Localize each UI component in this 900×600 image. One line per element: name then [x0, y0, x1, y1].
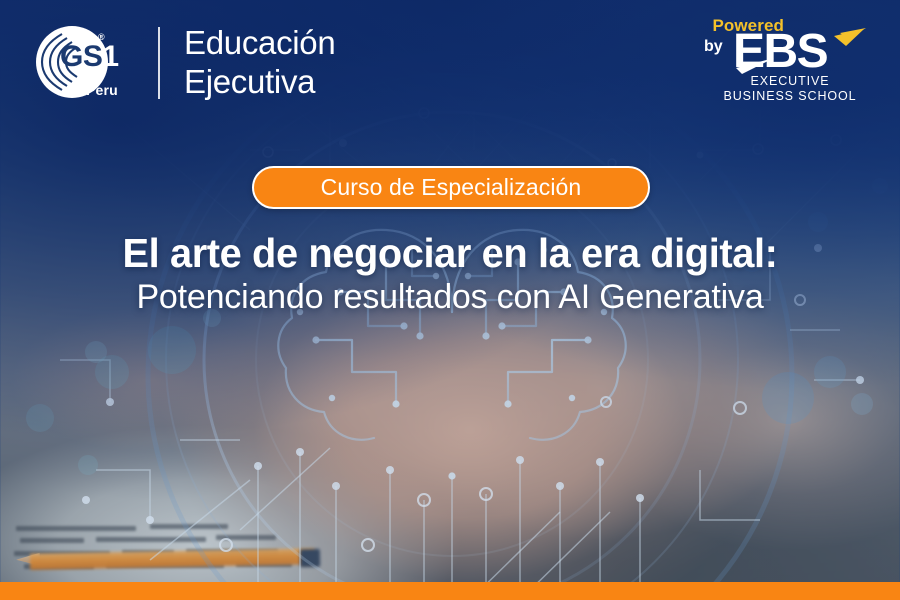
course-promo-banner: GS1 ® Peru Educación Ejecutiva Powered b… [0, 0, 900, 600]
unit-name-line1: Educación [184, 24, 335, 63]
bottom-accent-bar [0, 582, 900, 600]
logo-divider [158, 27, 160, 99]
course-title: El arte de negociar en la era digital: [14, 230, 887, 277]
registered-trademark-icon: ® [98, 33, 105, 42]
gs1-wordmark: GS1 [60, 42, 119, 72]
gs1-peru-logo[interactable]: GS1 ® Peru [36, 26, 140, 102]
header-bar: GS1 ® Peru Educación Ejecutiva Powered b… [0, 0, 900, 120]
gs1-mark-numeral: 1 [102, 40, 118, 73]
course-type-badge[interactable]: Curso de Especialización [252, 166, 650, 209]
ebs-full-name-line2: BUSINESS SCHOOL [706, 89, 874, 104]
ebs-full-name-line1: EXECUTIVE [706, 74, 874, 89]
ebs-logo[interactable]: Powered by EBS EXECUTIVE BUSINESS SCHOOL [698, 12, 874, 104]
unit-name-line2: Ejecutiva [184, 63, 335, 102]
gs1-country-label: Peru [86, 82, 118, 98]
gs1-mark-text: GS [60, 40, 102, 73]
ebs-full-name: EXECUTIVE BUSINESS SCHOOL [706, 74, 874, 104]
unit-name: Educación Ejecutiva [184, 24, 335, 102]
course-type-badge-label: Curso de Especialización [321, 174, 582, 201]
course-subtitle: Potenciando resultados con AI Generativa [0, 278, 900, 317]
